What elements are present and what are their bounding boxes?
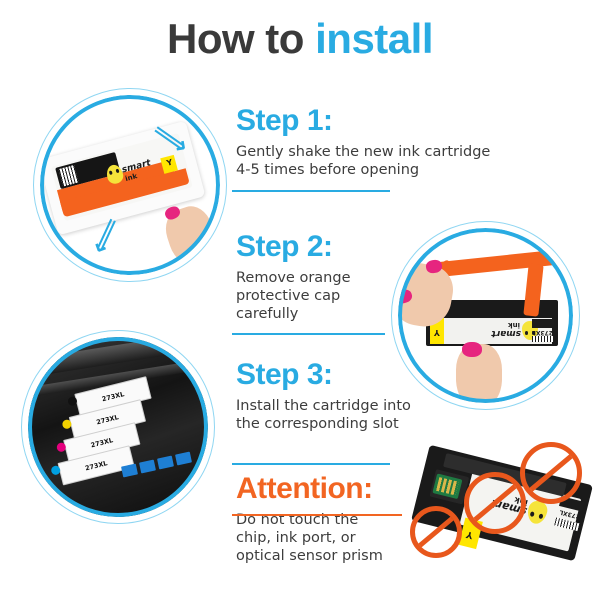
how-to-install-infographic: How to install smart: [0, 0, 600, 600]
cartridge-model: 273XL: [532, 329, 553, 335]
no-touch-ink-port-icon: [464, 472, 526, 534]
printer-cartridge-model: 273XL: [84, 459, 108, 472]
step-1-body-line-2: 4-5 times before opening: [236, 161, 566, 179]
step-1-heading: Step 1:: [236, 106, 566, 136]
brand-name-smart: smart: [491, 328, 521, 337]
attention-divider: [232, 514, 402, 516]
step-1-divider: [232, 190, 390, 192]
barcode-icon: [532, 336, 554, 342]
step-2-body-line-2: protective cap: [236, 287, 416, 305]
page-title: How to install: [0, 18, 600, 60]
printer-cartridge-model: 273XL: [101, 390, 125, 403]
step-3-body-line-2: the corresponding slot: [236, 415, 566, 433]
step-1-text: Step 1: Gently shake the new ink cartrid…: [236, 106, 566, 179]
step-3-text: Step 3: Install the cartridge into the c…: [236, 360, 566, 433]
step-3-heading: Step 3:: [236, 360, 566, 390]
attention-image: smart ink 273XL Y: [410, 440, 595, 590]
no-touch-optical-sensor-prism-icon: [520, 442, 582, 504]
fingernail-thumb: [462, 342, 482, 357]
step-3-divider: [232, 463, 390, 465]
no-touch-chip-icon: [410, 506, 462, 558]
step-2-heading: Step 2:: [236, 232, 416, 262]
step-2-divider: [232, 333, 385, 335]
printer-cartridge-model: 273XL: [90, 436, 114, 449]
step-3-body-line-1: Install the cartridge into: [236, 397, 566, 415]
title-part-accent: install: [315, 15, 433, 62]
title-part-static: How to: [167, 15, 315, 62]
step-2-text: Step 2: Remove orange protective cap car…: [236, 232, 416, 323]
color-letter: Y: [434, 328, 440, 336]
printer-cartridge-model: 273XL: [95, 413, 119, 426]
step-3-photo: 273XL 273XL 273XL 273XL: [28, 337, 208, 517]
step-1-photo: smart ink Y ⟹ ⟹: [40, 95, 220, 275]
step-1-body-line-1: Gently shake the new ink cartridge: [236, 143, 566, 161]
brand-name-ink: ink: [508, 321, 520, 328]
step-3-image: 273XL 273XL 273XL 273XL: [28, 337, 208, 517]
step-2-body-line-1: Remove orange: [236, 269, 416, 287]
step-1-image: smart ink Y ⟹ ⟹: [40, 95, 220, 275]
step-2-body-line-3: carefully: [236, 305, 416, 323]
